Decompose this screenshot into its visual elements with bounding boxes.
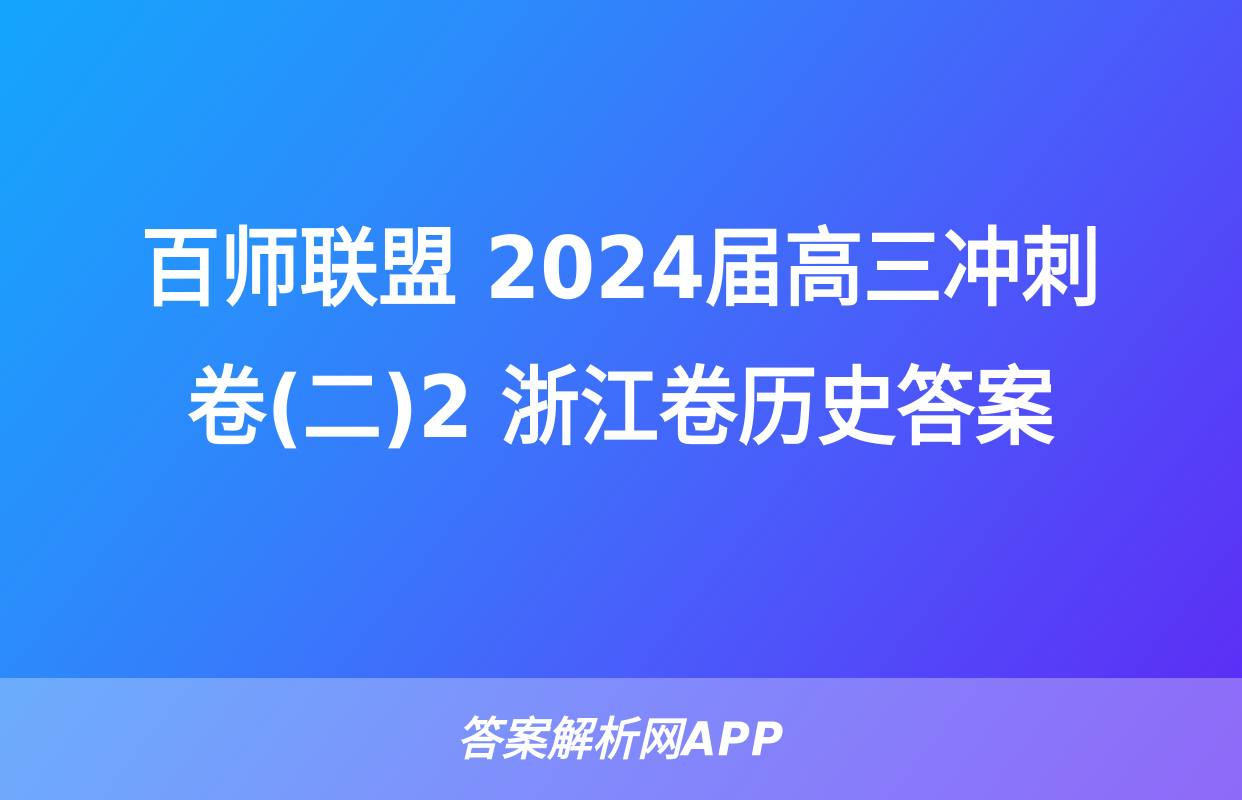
title-block: 百师联盟 2024届高三冲刺卷(二)2 浙江卷历史答案 [0,0,1242,678]
watermark-band: 答案解析网APP [0,678,1242,800]
app-watermark-label: 答案解析网APP [457,716,784,762]
answer-poster-card: 百师联盟 2024届高三冲刺卷(二)2 浙江卷历史答案 答案解析网APP [0,0,1242,800]
page-title: 百师联盟 2024届高三冲刺卷(二)2 浙江卷历史答案 [116,200,1126,479]
